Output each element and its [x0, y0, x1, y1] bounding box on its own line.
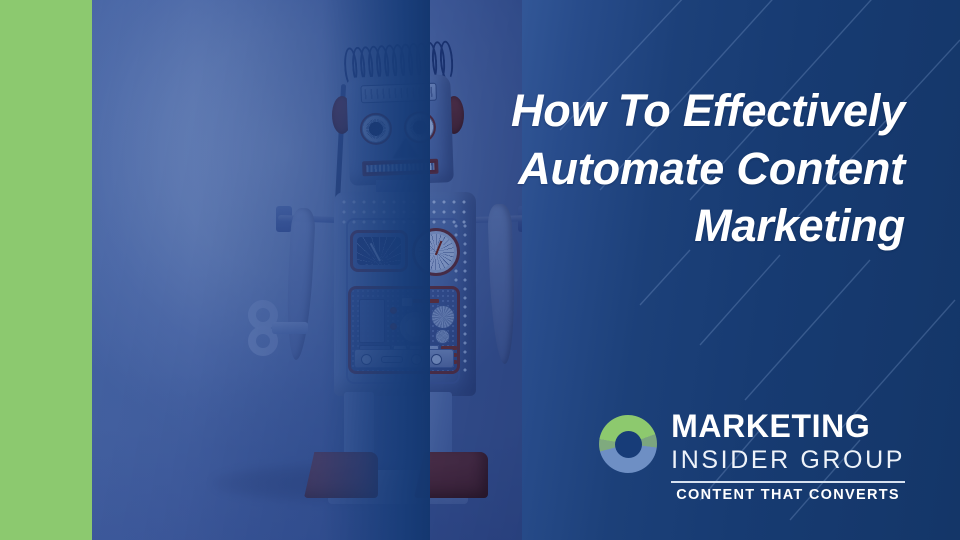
logo-line-insider-group: INSIDER GROUP: [671, 446, 905, 475]
marketing-banner: How To Effectively Automate Content Mark…: [0, 0, 960, 540]
logo-wordmark: MARKETING INSIDER GROUP CONTENT THAT CON…: [671, 410, 905, 504]
logo-tagline: CONTENT THAT CONVERTS: [671, 488, 905, 504]
title-line-3: Marketing: [425, 197, 905, 255]
brand-logo: MARKETING INSIDER GROUP CONTENT THAT CON…: [599, 410, 905, 504]
page-title: How To Effectively Automate Content Mark…: [425, 82, 905, 255]
logo-line-marketing: MARKETING: [671, 410, 905, 442]
ring-circle-icon: [599, 415, 657, 473]
logo-divider: [671, 481, 905, 483]
title-line-2: Automate Content: [425, 140, 905, 198]
left-green-accent-bar: [0, 0, 92, 540]
title-line-1: How To Effectively: [425, 82, 905, 140]
